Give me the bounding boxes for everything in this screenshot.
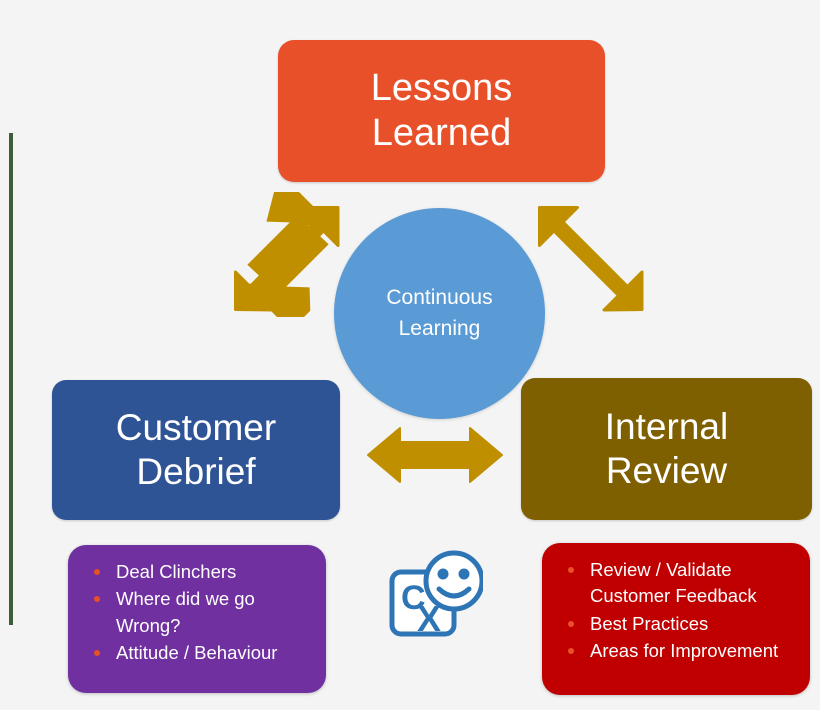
node-customer-debrief[interactable]: Customer Debrief	[52, 380, 340, 520]
node-internal-review[interactable]: Internal Review	[521, 378, 812, 520]
internal-review-line-2: Review	[606, 450, 727, 491]
lessons-learned-line-1: Lessons	[371, 67, 513, 109]
left-accent-rule	[9, 133, 13, 625]
customer-debrief-line-2: Debrief	[136, 451, 255, 492]
internal-review-line-1: Internal	[605, 406, 728, 447]
continuous-learning-line-1: Continuous	[386, 286, 492, 309]
panel-internal-review-details[interactable]: Review / Validate Customer Feedback Best…	[542, 543, 810, 695]
double-arrow-right-diagonal-icon	[530, 192, 650, 317]
cx-logo-eye-right	[459, 569, 470, 580]
node-customer-debrief-label: Customer Debrief	[116, 406, 276, 493]
cx-logo-eye-left	[438, 569, 449, 580]
continuous-learning-line-2: Learning	[399, 317, 481, 340]
cx-logo-letter-x: X	[417, 598, 441, 639]
node-lessons-learned[interactable]: Lessons Learned	[278, 40, 605, 182]
list-item: Where did we go Wrong?	[86, 586, 312, 639]
customer-debrief-bullet-list: Deal Clinchers Where did we go Wrong? At…	[86, 559, 312, 666]
panel-customer-debrief-details[interactable]: Deal Clinchers Where did we go Wrong? At…	[68, 545, 326, 693]
diagram-canvas: Lessons Learned Customer Debrief Interna…	[0, 0, 820, 710]
list-item: Areas for Improvement	[560, 638, 796, 664]
double-arrow-left-diagonal-icon	[228, 192, 348, 317]
list-item: Attitude / Behaviour	[86, 640, 312, 666]
lessons-learned-line-2: Learned	[372, 112, 511, 154]
node-lessons-learned-label: Lessons Learned	[371, 66, 513, 156]
customer-debrief-line-1: Customer	[116, 407, 276, 448]
double-arrow-horizontal-icon	[365, 424, 505, 486]
list-item: Best Practices	[560, 611, 796, 637]
node-internal-review-label: Internal Review	[605, 405, 728, 492]
node-continuous-learning[interactable]: Continuous Learning	[334, 208, 545, 419]
internal-review-bullet-list: Review / Validate Customer Feedback Best…	[560, 557, 796, 664]
list-item: Review / Validate Customer Feedback	[560, 557, 796, 610]
node-continuous-learning-label: Continuous Learning	[386, 283, 492, 344]
cx-logo-icon: C X	[385, 548, 483, 646]
list-item: Deal Clinchers	[86, 559, 312, 585]
